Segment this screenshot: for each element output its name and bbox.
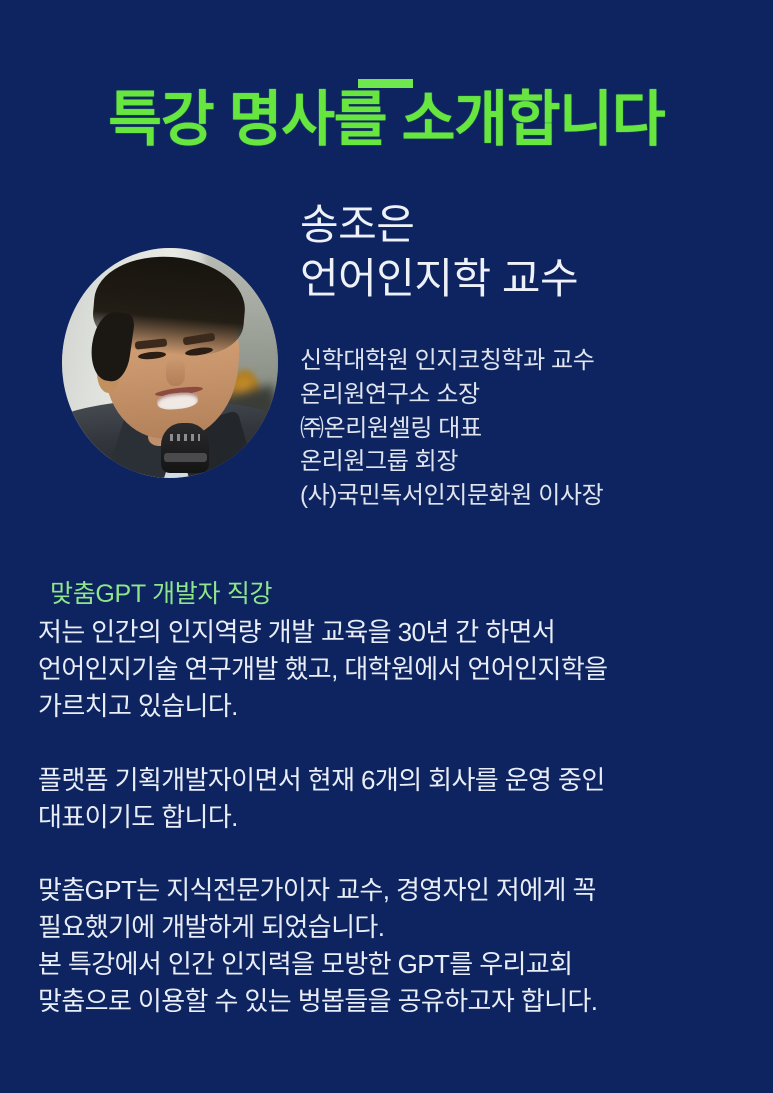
speaker-role: 언어인지학 교수 — [300, 252, 578, 306]
nose-shape — [166, 358, 185, 386]
credential-item: (사)국민독서인지문화원 이사장 — [300, 479, 603, 513]
credential-item: 온리원연구소 소장 — [300, 378, 603, 412]
credential-item: 신학대학원 인지코칭학과 교수 — [300, 344, 603, 378]
paragraph-line: 맞춤으로 이용할 수 있는 벙봅들을 공유하고자 합니다. — [38, 983, 756, 1020]
paragraph-line: 본 특강에서 인간 인지력을 모방한 GPT를 우리교회 — [38, 946, 756, 983]
paragraph-line: 저는 인간의 인지역량 개발 교육을 30년 간 하면서 — [38, 614, 756, 651]
paragraph-line: 대표이기도 합니다. — [38, 799, 756, 836]
body-subheading: 맞춤GPT 개발자 직강 — [50, 574, 272, 610]
paragraph-line: 가르치고 있습니다. — [38, 688, 756, 725]
page-title: 특강 명사를 소개합니다 — [12, 88, 762, 153]
credential-item: 온리원그룹 회장 — [300, 445, 603, 479]
credential-item: ㈜온리원셀링 대표 — [300, 412, 603, 446]
microphone-grille — [170, 434, 200, 441]
speaker-credentials: 신학대학원 인지코칭학과 교수 온리원연구소 소장 ㈜온리원셀링 대표 온리원그… — [300, 344, 603, 513]
microphone-band — [164, 453, 207, 462]
speaker-name: 송조은 — [300, 198, 578, 252]
poster-canvas: 특강 명사를 소개합니다 — [0, 0, 773, 1093]
paragraph: 저는 인간의 인지역량 개발 교육을 30년 간 하면서 언어인지기술 연구개발… — [38, 614, 756, 725]
speaker-name-block: 송조은 언어인지학 교수 — [300, 198, 578, 306]
paragraph-line: 플랫폼 기획개발자이면서 현재 6개의 회사를 운영 중인 — [38, 762, 756, 799]
paragraph: 플랫폼 기획개발자이면서 현재 6개의 회사를 운영 중인 대표이기도 합니다. — [38, 762, 756, 836]
paragraph-line: 맞춤GPT는 지식전문가이자 교수, 경영자인 저에게 꼭 — [38, 872, 756, 909]
paragraph: 맞춤GPT는 지식전문가이자 교수, 경영자인 저에게 꼭 필요했기에 개발하게… — [38, 872, 756, 1020]
paragraph-line: 언어인지기술 연구개발 했고, 대학원에서 언어인지학을 — [38, 651, 756, 688]
speaker-photo — [62, 248, 278, 478]
paragraph-line: 필요했기에 개발하게 되었습니다. — [38, 909, 756, 946]
body-copy: 저는 인간의 인지역량 개발 교육을 30년 간 하면서 언어인지기술 연구개발… — [38, 614, 756, 1020]
microphone-icon — [161, 423, 209, 474]
portrait-illustration — [62, 248, 278, 478]
